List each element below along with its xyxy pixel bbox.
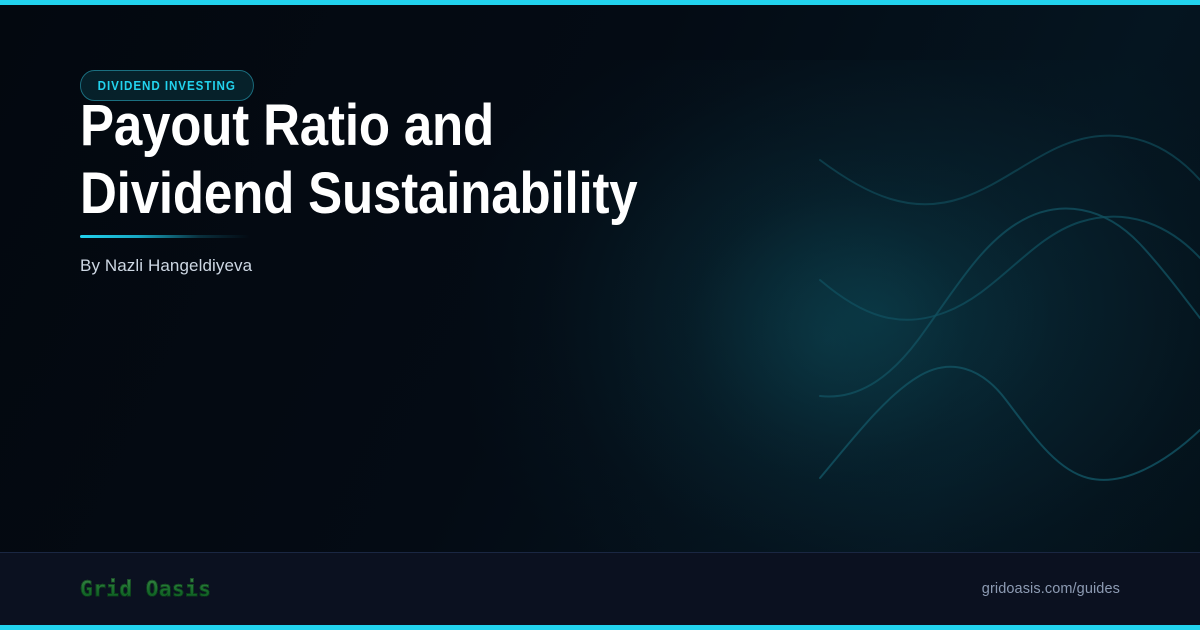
footer-bar: Grid Oasis gridoasis.com/guides xyxy=(0,552,1200,625)
author-byline: By Nazli Hangeldiyeva xyxy=(80,256,252,276)
social-card-canvas: DIVIDEND INVESTING Payout Ratio and Divi… xyxy=(0,0,1200,630)
title-divider xyxy=(80,235,250,238)
bottom-accent-bar xyxy=(0,625,1200,630)
footer-url[interactable]: gridoasis.com/guides xyxy=(982,581,1120,597)
brand-logo[interactable]: Grid Oasis xyxy=(80,577,211,601)
top-accent-bar xyxy=(0,0,1200,5)
footer-inner: Grid Oasis gridoasis.com/guides xyxy=(0,553,1200,625)
page-title: Payout Ratio and Dividend Sustainability xyxy=(80,92,643,228)
